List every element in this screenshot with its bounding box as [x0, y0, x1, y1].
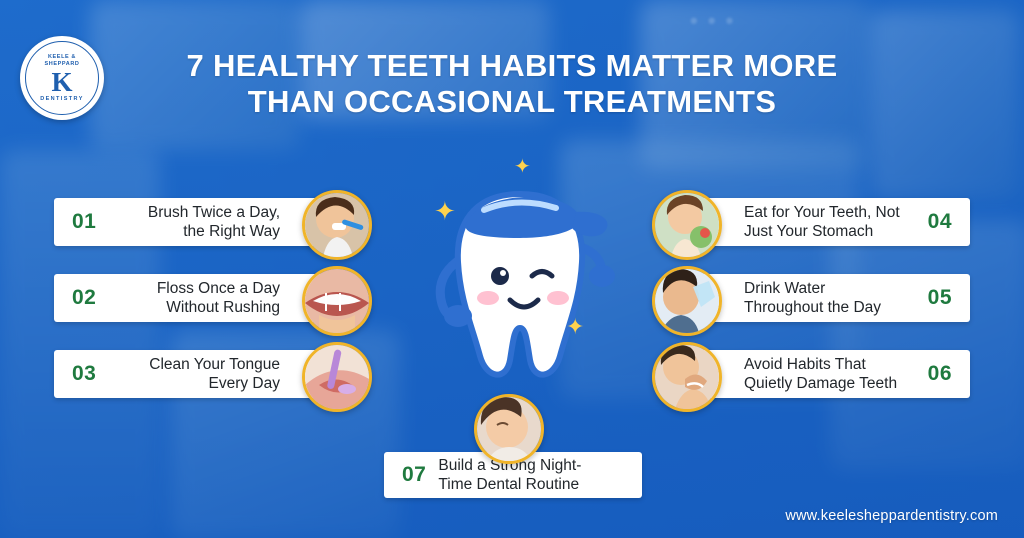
list-item-text-line-2: Throughout the Day: [744, 299, 881, 316]
list-item-text: Clean Your Tongue Every Day: [110, 355, 280, 393]
list-item[interactable]: 02 Floss Once a Day Without Rushing: [54, 274, 358, 322]
list-item[interactable]: 07 Build a Strong Night- Time Dental Rou…: [384, 452, 642, 498]
page-title-line-2: THAN OCCASIONAL TREATMENTS: [112, 84, 912, 120]
background-texture-text: • • •: [690, 8, 735, 34]
brand-logo-bottom-text: DENTISTRY: [40, 96, 84, 102]
list-item-bar[interactable]: 03 Clean Your Tongue Every Day: [54, 350, 344, 398]
list-item-text: Avoid Habits That Quietly Damage Teeth: [744, 355, 914, 393]
list-item-number: 02: [72, 286, 96, 310]
list-item-text-line-1: Clean Your Tongue: [149, 356, 280, 373]
list-item-number: 04: [928, 210, 952, 234]
list-item-text-line-2: Without Rushing: [166, 299, 280, 316]
list-item-text-line-1: Avoid Habits That: [744, 356, 866, 373]
brand-logo-top-text: KEELE & SHEPPARD: [30, 54, 94, 68]
list-item-text: Build a Strong Night- Time Dental Routin…: [438, 456, 628, 494]
flossing-teeth-closeup-photo: [302, 266, 372, 336]
biting-nails-photo: [652, 342, 722, 412]
list-item-number: 06: [928, 362, 952, 386]
page-title-line-1: 7 HEALTHY TEETH HABITS MATTER MORE: [112, 48, 912, 84]
photo-illustration: [655, 269, 719, 333]
list-item-text-line-1: Brush Twice a Day,: [148, 204, 280, 221]
background-blur-shape: [830, 220, 1024, 470]
list-item-text-line-2: Every Day: [209, 375, 281, 392]
list-item-text-line-1: Drink Water: [744, 280, 825, 297]
page-title: 7 HEALTHY TEETH HABITS MATTER MORE THAN …: [112, 48, 912, 120]
list-item[interactable]: 03 Clean Your Tongue Every Day: [54, 350, 358, 398]
list-item-bar[interactable]: Drink Water Throughout the Day 05: [680, 274, 970, 322]
photo-illustration: [305, 193, 369, 257]
list-item-text-line-2: Time Dental Routine: [438, 476, 579, 493]
list-item-text: Floss Once a Day Without Rushing: [110, 279, 280, 317]
list-item-text-line-2: Just Your Stomach: [744, 223, 873, 240]
photo-illustration: [305, 345, 369, 409]
list-item[interactable]: 01 Brush Twice a Day, the Right Way: [54, 198, 358, 246]
list-item-text-line-2: Quietly Damage Teeth: [744, 375, 897, 392]
brand-logo-letter: K: [51, 68, 72, 96]
list-item-bar[interactable]: Eat for Your Teeth, Not Just Your Stomac…: [680, 198, 970, 246]
list-item[interactable]: Drink Water Throughout the Day 05: [666, 274, 970, 322]
infographic-canvas: • • • KEELE & SHEPPARD K DENTISTRY 7 HEA…: [0, 0, 1024, 538]
list-item-text: Drink Water Throughout the Day: [744, 279, 914, 317]
list-item-text-line-1: Floss Once a Day: [157, 280, 280, 297]
list-item-number: 05: [928, 286, 952, 310]
photo-illustration: [655, 345, 719, 409]
list-item-bar[interactable]: 01 Brush Twice a Day, the Right Way: [54, 198, 344, 246]
man-drinking-water-photo: [652, 266, 722, 336]
website-url[interactable]: www.keelesheppardentistry.com: [785, 508, 998, 524]
sparkle-icon: ✦: [434, 198, 456, 224]
list-item-bar[interactable]: Avoid Habits That Quietly Damage Teeth 0…: [680, 350, 970, 398]
sparkle-icon: ✦: [514, 154, 531, 180]
tooth-mascot-illustration: [400, 150, 640, 410]
list-item-text: Brush Twice a Day, the Right Way: [110, 203, 280, 241]
sparkle-icon: ✦: [566, 314, 584, 340]
photo-illustration: [655, 193, 719, 257]
list-item[interactable]: Avoid Habits That Quietly Damage Teeth 0…: [666, 350, 970, 398]
girl-brushing-teeth-photo: [302, 190, 372, 260]
winking-tooth-character: ✦ ✦ ✦: [400, 150, 640, 410]
list-item-text-line-1: Eat for Your Teeth, Not: [744, 204, 900, 221]
tongue-cleaner-photo: [302, 342, 372, 412]
list-item[interactable]: Eat for Your Teeth, Not Just Your Stomac…: [666, 198, 970, 246]
list-item-bar[interactable]: 02 Floss Once a Day Without Rushing: [54, 274, 344, 322]
list-item-number: 03: [72, 362, 96, 386]
brand-logo-inner: KEELE & SHEPPARD K DENTISTRY: [25, 41, 99, 115]
list-item-number: 01: [72, 210, 96, 234]
photo-illustration: [305, 269, 369, 333]
brand-logo: KEELE & SHEPPARD K DENTISTRY: [20, 36, 104, 120]
list-item-text: Eat for Your Teeth, Not Just Your Stomac…: [744, 203, 914, 241]
woman-eating-salad-photo: [652, 190, 722, 260]
list-item-text-line-2: the Right Way: [183, 223, 280, 240]
list-item-number: 07: [402, 463, 426, 487]
